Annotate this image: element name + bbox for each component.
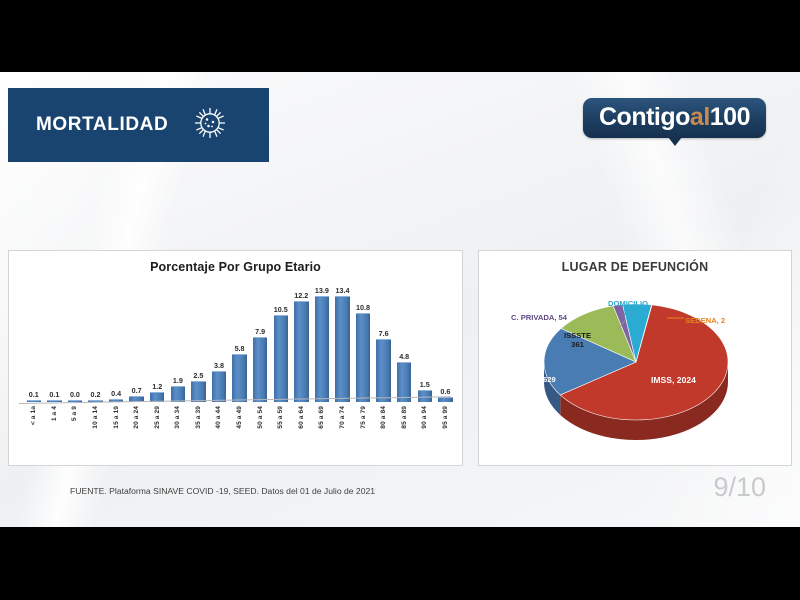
x-label-slot: 45 a 49 [231,406,249,452]
bar-item: 0.1 [25,286,43,402]
bar-value-label: 0.1 [49,390,59,399]
x-axis-label: 55 a 59 [277,406,284,429]
bar-value-label: 1.9 [173,376,183,385]
x-label-slot: 95 a 99 [437,406,455,452]
logo-text: Contigoal100 [599,105,750,130]
x-label-slot: 20 a 24 [128,406,146,452]
page-indicator: 9/10 [713,472,766,503]
bar-value-label: 0.0 [70,390,80,399]
bar [253,337,267,402]
slide-title: MORTALIDAD [36,114,168,136]
x-axis-label: 15 a 19 [113,406,120,429]
bar-value-label: 4.8 [399,352,409,361]
bar-value-label: 1.5 [420,380,430,389]
x-label-slot: < a 1a [25,406,43,452]
bar-item: 10.8 [354,286,372,402]
bar-chart-panel: Porcentaje Por Grupo Etario 0.10.10.00.2… [8,250,463,466]
bar-item: 13.4 [334,286,352,402]
x-label-slot: 85 a 89 [395,406,413,452]
logo-bubble: Contigoal100 [583,98,766,138]
pie-label-domicilio-line2: 163 [623,308,636,317]
x-label-slot: 15 a 19 [107,406,125,452]
bar-item: 7.6 [375,286,393,402]
x-label-slot: 40 a 44 [210,406,228,452]
bar-chart-plot: 0.10.10.00.20.40.71.21.92.53.85.87.910.5… [9,274,462,454]
bar-item: 2.5 [190,286,208,402]
bar-item: 0.7 [128,286,146,402]
bar [212,371,226,402]
x-label-slot: 30 a 34 [169,406,187,452]
x-axis-label: 40 a 44 [215,406,222,429]
bar-value-label: 10.5 [274,305,288,314]
x-axis-label: 60 a 64 [298,406,305,429]
bar-value-label: 5.8 [235,344,245,353]
bar-value-label: 2.5 [193,371,203,380]
pie-label-c-privada: C. PRIVADA, 54 [511,314,567,323]
logo-part-100: 100 [710,103,750,131]
x-axis-label: 95 a 99 [442,406,449,429]
x-label-slot: 50 a 54 [251,406,269,452]
bar-value-label: 13.9 [315,286,329,295]
x-label-slot: 10 a 14 [87,406,105,452]
bar [191,381,205,402]
x-axis-label: 65 a 69 [318,406,325,429]
pie-label-sedena: SEDENA, 2 [685,317,725,326]
bar [438,397,452,402]
x-axis-label: 50 a 54 [257,406,264,429]
pie-label-issea: ISSEA, 629 [516,376,556,385]
bar-value-label: 12.2 [294,291,308,300]
x-label-slot: 55 a 59 [272,406,290,452]
x-axis-label: 1 a 4 [51,406,58,421]
bar [232,354,246,402]
x-axis-label: 25 a 29 [154,406,161,429]
bar [335,296,349,402]
x-axis-label: 5 a 9 [71,406,78,421]
pie-chart-title: LUGAR DE DEFUNCIÓN [479,260,791,274]
bar-value-label: 0.7 [132,386,142,395]
bar-item: 0.4 [107,286,125,402]
x-label-slot: 1 a 4 [46,406,64,452]
x-label-slot: 90 a 94 [416,406,434,452]
virus-icon [190,103,230,148]
x-label-slot: 70 a 74 [334,406,352,452]
pie-label-issste-line2: 361 [571,340,584,349]
x-axis-label: 20 a 24 [133,406,140,429]
bar-value-label: 1.2 [152,382,162,391]
letterbox-bottom [0,527,800,600]
bar-value-label: 13.4 [335,286,349,295]
logo-part-contigo: Contigo [599,103,690,131]
bar [356,313,370,402]
bar-item: 0.6 [437,286,455,402]
x-axis-label: 30 a 34 [174,406,181,429]
x-axis-label: 45 a 49 [236,406,243,429]
bar-item: 13.9 [313,286,331,402]
bar-item: 0.1 [46,286,64,402]
logo-part-al: al [690,103,710,131]
x-label-slot: 80 a 84 [375,406,393,452]
x-axis-label: 10 a 14 [92,406,99,429]
x-label-slot: 25 a 29 [148,406,166,452]
x-axis-label: 90 a 94 [421,406,428,429]
x-axis-label: < a 1a [30,406,37,425]
x-axis-label: 75 a 79 [360,406,367,429]
bar-value-label: 0.6 [440,387,450,396]
source-note: FUENTE. Plataforma SINAVE COVID -19, SEE… [70,486,375,496]
bar-value-label: 7.9 [255,327,265,336]
pie-chart-plot: C. PRIVADA, 54 DOMICILIO, 163 SEDENA, 2 … [479,274,791,456]
bar [294,301,308,402]
bar-item: 1.9 [169,286,187,402]
brand-logo: Contigoal100 [583,98,766,138]
x-axis-label: 70 a 74 [339,406,346,429]
slide-header-banner: MORTALIDAD [8,88,269,162]
x-label-slot: 5 a 9 [66,406,84,452]
bar-value-label: 0.1 [29,390,39,399]
bar-item: 7.9 [251,286,269,402]
bar-item: 12.2 [293,286,311,402]
bar-item: 1.2 [148,286,166,402]
bar-item: 4.8 [395,286,413,402]
bar-chart-x-axis-labels: < a 1a1 a 45 a 910 a 1415 a 1920 a 2425 … [25,406,454,452]
x-label-slot: 65 a 69 [313,406,331,452]
bar-item: 0.2 [87,286,105,402]
bar-value-label: 3.8 [214,361,224,370]
bar-item: 10.5 [272,286,290,402]
x-label-slot: 35 a 39 [190,406,208,452]
bar-value-label: 0.4 [111,389,121,398]
bar [315,296,329,402]
bar-value-label: 0.2 [91,390,101,399]
pie-label-domicilio-line1: DOMICILIO, [608,299,650,308]
bar [376,339,390,402]
video-player-screen: MORTALIDAD [0,0,800,600]
x-axis-label: 35 a 39 [195,406,202,429]
bar-chart-title: Porcentaje Por Grupo Etario [9,260,462,274]
letterbox-top [0,0,800,72]
presentation-slide: MORTALIDAD [0,72,800,527]
x-axis-label: 85 a 89 [401,406,408,429]
bar-item: 0.0 [66,286,84,402]
pie-label-imss: IMSS, 2024 [651,376,696,386]
x-axis-label: 80 a 84 [380,406,387,429]
pie-chart-panel: LUGAR DE DEFUNCIÓN C. PRIVADA, 54 DOMICI… [478,250,792,466]
x-label-slot: 60 a 64 [293,406,311,452]
x-label-slot: 75 a 79 [354,406,372,452]
bar-series: 0.10.10.00.20.40.71.21.92.53.85.87.910.5… [25,286,454,402]
pie-label-issste: ISSSTE 361 [564,332,591,349]
bar [274,315,288,402]
pie-label-issste-line1: ISSSTE [564,331,591,340]
bar-item: 3.8 [210,286,228,402]
bar-value-label: 7.6 [379,329,389,338]
bar-item: 1.5 [416,286,434,402]
bar-value-label: 10.8 [356,303,370,312]
pie-label-domicilio: DOMICILIO, 163 [608,300,650,317]
bar-item: 5.8 [231,286,249,402]
